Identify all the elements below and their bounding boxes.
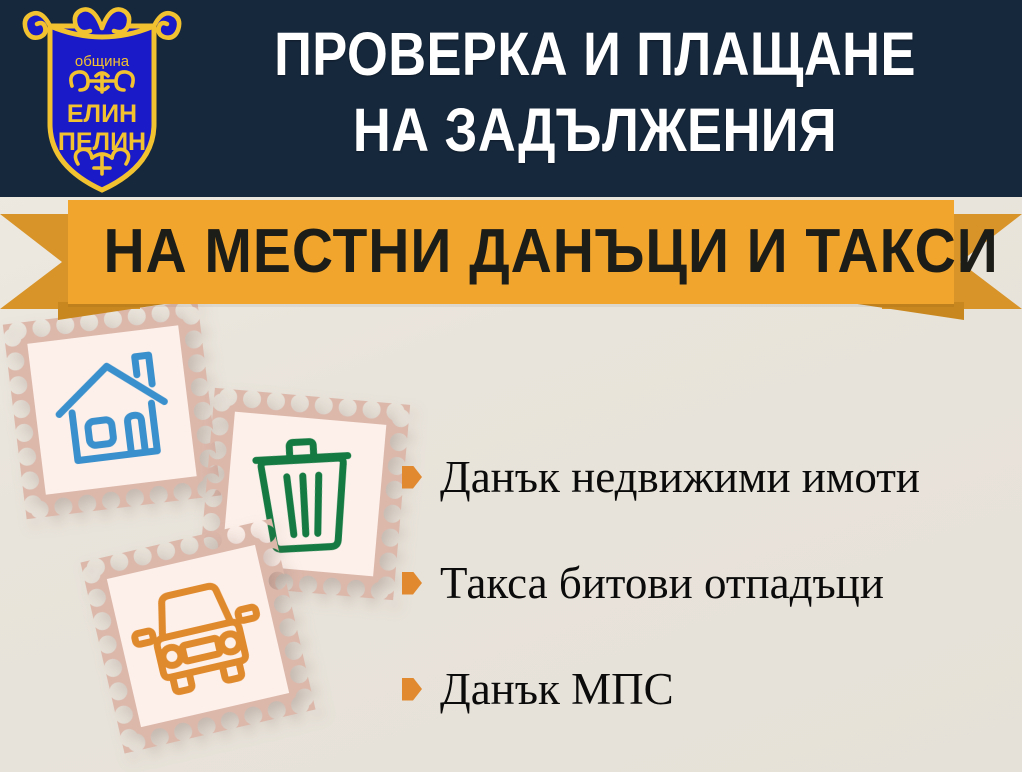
list-item[interactable]: Данък МПС (402, 636, 1006, 742)
page-title: ПРОВЕРКА И ПЛАЩАНЕ НА ЗАДЪЛЖЕНИЯ (242, 16, 947, 168)
page-title-line-2: НА ЗАДЪЛЖЕНИЯ (242, 92, 947, 168)
arrow-bullet-icon (402, 678, 422, 701)
list-item-label: Такса битови отпадъци (440, 557, 884, 609)
crest-text-obshtina: община (75, 53, 130, 70)
ribbon-label: НА МЕСТНИ ДАНЪЦИ И ТАКСИ (103, 200, 918, 304)
list-item[interactable]: Такса битови отпадъци (402, 530, 1006, 636)
arrow-bullet-icon (402, 572, 422, 595)
crest-text-elin: ЕЛИН (67, 100, 137, 128)
ribbon-fold-right (844, 302, 964, 320)
municipality-crest-logo: община ЕЛИН ПЕЛИН (22, 4, 182, 196)
crest-text-pelin: ПЕЛИН (58, 128, 146, 156)
arrow-bullet-icon (402, 466, 422, 489)
page-title-line-1: ПРОВЕРКА И ПЛАЩАНЕ (242, 16, 947, 92)
stamp-card-house (3, 301, 221, 519)
tax-types-list: Данък недвижими имоти Такса битови отпад… (402, 424, 1006, 742)
stamp-paper (27, 325, 196, 494)
ribbon-body: НА МЕСТНИ ДАНЪЦИ И ТАКСИ (68, 200, 954, 304)
list-item-label: Данък недвижими имоти (440, 451, 920, 503)
poster-root: ПРОВЕРКА И ПЛАЩАНЕ НА ЗАДЪЛЖЕНИЯ община (0, 0, 1022, 772)
ribbon-banner: НА МЕСТНИ ДАНЪЦИ И ТАКСИ (0, 196, 1022, 311)
list-item-label: Данък МПС (440, 663, 674, 715)
list-item[interactable]: Данък недвижими имоти (402, 424, 1006, 530)
